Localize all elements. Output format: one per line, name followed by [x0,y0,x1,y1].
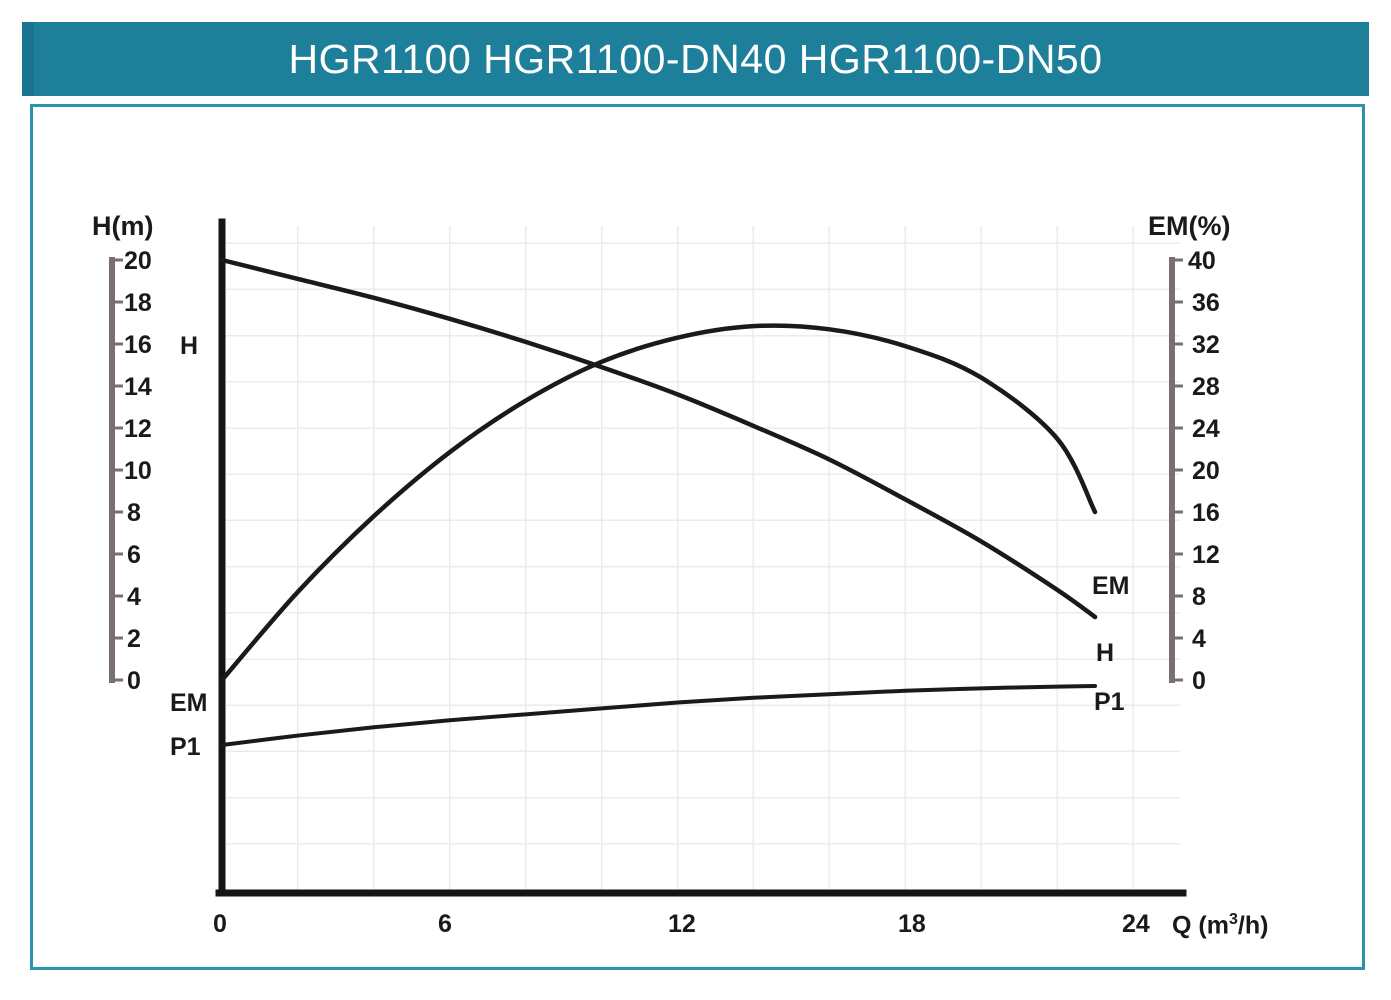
right-tick-label-16: 16 [1192,501,1220,526]
left-tick-label-12: 12 [124,417,152,442]
x-axis-unit-exponent: 3 [1229,911,1238,928]
curve-label-right-em: EM [1092,574,1130,599]
right-tick-label-40: 40 [1188,249,1216,274]
x-axis-unit-close: /h) [1238,911,1269,939]
title-banner: HGR1100 HGR1100-DN40 HGR1100-DN50 [22,22,1369,96]
curve-label-left-p1: P1 [170,735,201,760]
right-tick-label-24: 24 [1192,417,1220,442]
left-tick-label-10: 10 [124,459,152,484]
right-tick-label-8: 8 [1192,585,1206,610]
left-axis-title: H(m) [92,213,154,240]
left-tick-label-0: 0 [127,669,141,694]
right-tick-label-4: 4 [1192,627,1206,652]
page-title: HGR1100 HGR1100-DN40 HGR1100-DN50 [288,36,1102,83]
curve-label-right-p1: P1 [1094,690,1125,715]
right-tick-label-32: 32 [1192,333,1220,358]
x-axis-symbol: Q [1172,911,1191,939]
right-tick-label-28: 28 [1192,375,1220,400]
right-tick-label-0: 0 [1192,669,1206,694]
left-tick-label-16: 16 [124,333,152,358]
right-tick-label-12: 12 [1192,543,1220,568]
left-tick-label-20: 20 [124,249,152,274]
left-tick-label-18: 18 [124,291,152,316]
left-tick-label-2: 2 [127,627,141,652]
x-axis-title: Q (m3/h) [1172,912,1268,938]
pump-curve-page: HGR1100 HGR1100-DN40 HGR1100-DN50 H(m [0,0,1391,1000]
x-tick-label-18: 18 [898,912,926,937]
curve-label-left-em: EM [170,691,208,716]
curve-label-right-h: H [1096,641,1114,666]
banner-accent-bar [22,22,34,96]
curve-label-left-h: H [180,334,198,359]
left-tick-label-14: 14 [124,375,152,400]
x-tick-label-24: 24 [1122,912,1150,937]
left-tick-label-8: 8 [127,501,141,526]
right-tick-label-20: 20 [1192,459,1220,484]
x-tick-label-12: 12 [668,912,696,937]
left-tick-label-4: 4 [127,585,141,610]
left-tick-label-6: 6 [127,543,141,568]
x-tick-label-6: 6 [438,912,452,937]
right-axis-title: EM(%) [1148,213,1231,240]
x-axis-unit-open: (m [1198,911,1229,939]
x-tick-label-0: 0 [213,912,227,937]
right-tick-label-36: 36 [1192,291,1220,316]
